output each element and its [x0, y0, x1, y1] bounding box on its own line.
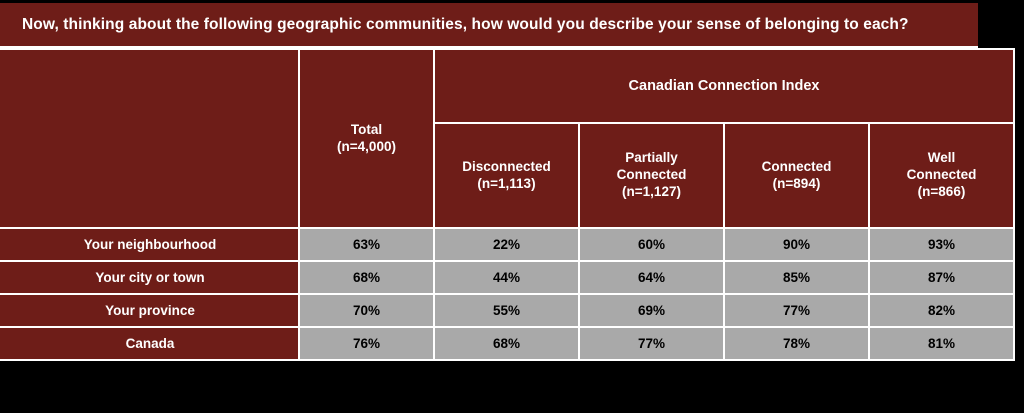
table-body: Your neighbourhood 63% 22% 60% 90% 93% Y… — [1, 228, 1014, 360]
cell-your-neighbourhood-partially-connected: 60% — [579, 228, 724, 261]
cell-your-province-connected: 77% — [724, 294, 869, 327]
cell-your-neighbourhood-connected: 90% — [724, 228, 869, 261]
header-group-canadian-connection-index: Canadian Connection Index — [434, 49, 1014, 123]
table-row: Your province 70% 55% 69% 77% 82% — [1, 294, 1014, 327]
cell-your-province-disconnected: 55% — [434, 294, 579, 327]
header-segment-well-connected-label-line2: Connected — [870, 167, 1013, 184]
cell-your-province-well-connected: 82% — [869, 294, 1014, 327]
cell-your-city-or-town-partially-connected: 64% — [579, 261, 724, 294]
table-row: Your city or town 68% 44% 64% 85% 87% — [1, 261, 1014, 294]
row-label-canada: Canada — [1, 327, 299, 360]
table-row: Your neighbourhood 63% 22% 60% 90% 93% — [1, 228, 1014, 261]
header-segment-well-connected: Well Connected (n=866) — [869, 123, 1014, 228]
header-segment-connected-base: (n=894) — [725, 176, 868, 193]
row-label-your-province: Your province — [1, 294, 299, 327]
header-corner-cell — [1, 49, 299, 228]
header-total-base: (n=4,000) — [300, 139, 433, 156]
header-total-label: Total — [300, 122, 433, 139]
question-title-bar: Now, thinking about the following geogra… — [0, 3, 978, 48]
cell-your-neighbourhood-disconnected: 22% — [434, 228, 579, 261]
header-segment-well-connected-label-line1: Well — [870, 150, 1013, 167]
header-segment-connected-label: Connected — [725, 159, 868, 176]
cell-your-city-or-town-connected: 85% — [724, 261, 869, 294]
cell-your-province-total: 70% — [299, 294, 434, 327]
cell-your-province-partially-connected: 69% — [579, 294, 724, 327]
cell-canada-partially-connected: 77% — [579, 327, 724, 360]
cell-canada-disconnected: 68% — [434, 327, 579, 360]
row-label-your-city-or-town: Your city or town — [1, 261, 299, 294]
screenshot-root: Now, thinking about the following geogra… — [0, 0, 1024, 413]
header-segment-disconnected-label: Disconnected — [435, 159, 578, 176]
header-segment-connected: Connected (n=894) — [724, 123, 869, 228]
page-title: Now, thinking about the following geogra… — [22, 16, 909, 33]
cell-your-neighbourhood-well-connected: 93% — [869, 228, 1014, 261]
table-head: Total (n=4,000) Canadian Connection Inde… — [1, 49, 1014, 228]
header-segment-disconnected: Disconnected (n=1,113) — [434, 123, 579, 228]
row-label-your-neighbourhood: Your neighbourhood — [1, 228, 299, 261]
cell-canada-total: 76% — [299, 327, 434, 360]
cell-canada-well-connected: 81% — [869, 327, 1014, 360]
header-row-group: Total (n=4,000) Canadian Connection Inde… — [1, 49, 1014, 123]
header-segment-well-connected-base: (n=866) — [870, 184, 1013, 201]
cell-your-city-or-town-well-connected: 87% — [869, 261, 1014, 294]
survey-table-frame: Now, thinking about the following geogra… — [0, 3, 978, 368]
cell-your-city-or-town-total: 68% — [299, 261, 434, 294]
table-row: Canada 76% 68% 77% 78% 81% — [1, 327, 1014, 360]
header-segment-partially-connected: Partially Connected (n=1,127) — [579, 123, 724, 228]
cell-canada-connected: 78% — [724, 327, 869, 360]
header-segment-partially-connected-label-line1: Partially — [580, 150, 723, 167]
survey-crosstab-table: Total (n=4,000) Canadian Connection Inde… — [0, 48, 1015, 361]
header-segment-partially-connected-label-line2: Connected — [580, 167, 723, 184]
header-total-column: Total (n=4,000) — [299, 49, 434, 228]
cell-your-neighbourhood-total: 63% — [299, 228, 434, 261]
header-segment-partially-connected-base: (n=1,127) — [580, 184, 723, 201]
cell-your-city-or-town-disconnected: 44% — [434, 261, 579, 294]
header-segment-disconnected-base: (n=1,113) — [435, 176, 578, 193]
